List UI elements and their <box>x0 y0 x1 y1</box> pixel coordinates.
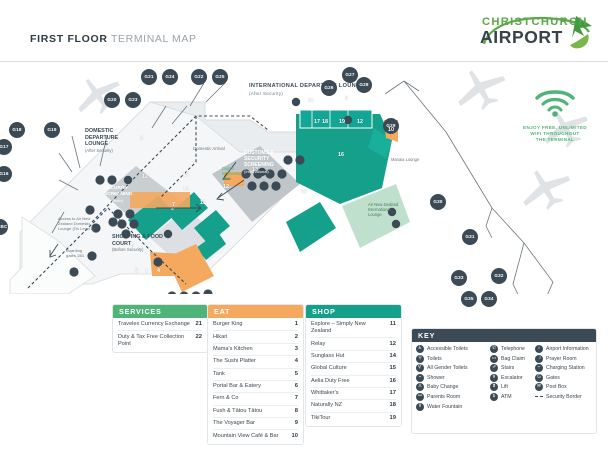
wifi-icon <box>533 88 577 118</box>
list-item[interactable]: Aelia Duty Free16 <box>311 376 396 388</box>
list-item[interactable]: The Voyager Bar9 <box>213 418 298 430</box>
list-item-label: Burger King <box>213 321 247 328</box>
list-item-number: 17 <box>390 390 396 397</box>
security-border-icon <box>535 393 543 401</box>
key-item-label: ATM <box>501 394 512 400</box>
parents-room-icon: ⚯ <box>416 393 424 401</box>
venue-number[interactable]: 1 <box>145 268 148 274</box>
map-label-domestic-arrival: Domestic Arrival <box>193 146 225 152</box>
terminal-map-page: FIRST FLOOR TERMINAL MAP CHRISTCHURCH AI… <box>0 0 608 456</box>
key-item: Security Border <box>535 393 597 401</box>
gate-badge[interactable]: G22 <box>191 69 207 85</box>
lift-icon: ⬍ <box>490 383 498 391</box>
list-item[interactable]: Tank5 <box>213 369 298 381</box>
list-item[interactable]: Sunglass Hut14 <box>311 351 396 363</box>
map-label-air-nz-international-lounge: Air New Zealand International Lounge <box>368 202 402 217</box>
escalator-icon: ⇞ <box>490 374 498 382</box>
key-panel-title: KEY <box>412 329 596 342</box>
shop-panel-title: SHOP <box>306 305 401 318</box>
list-item-label: Explore – Simply New Zealand <box>311 321 390 335</box>
key-item: ✆Telephone <box>490 345 535 353</box>
list-item-label: Global Culture <box>311 365 351 372</box>
list-item-number: 6 <box>295 383 298 390</box>
page-title: FIRST FLOOR TERMINAL MAP <box>30 33 197 45</box>
key-item-label: Bag Claim <box>501 356 525 362</box>
key-item: ✉Post Box <box>535 383 597 391</box>
list-item-number: 11 <box>390 321 396 328</box>
map-label-digital-innovation-zone: Digital Innovation Zone <box>222 166 252 182</box>
key-item: $ATM <box>490 393 535 401</box>
key-item: ⚲Toilets <box>416 355 490 363</box>
list-item[interactable]: Whittaker's17 <box>311 388 396 400</box>
gate-badge[interactable]: G19 <box>44 122 60 138</box>
gate-badge[interactable]: G26 <box>321 80 337 96</box>
key-item: ⌁Charging Station <box>535 364 597 372</box>
key-item: ♿Accessible Toilets <box>416 345 490 353</box>
map-label-security-screening: SECURITY SCREENING (Domestic) <box>104 186 146 205</box>
wifi-line1: ENJOY FREE, UNLIMITED <box>523 125 587 130</box>
page-title-bold: FIRST FLOOR <box>30 33 108 45</box>
map-label-domestic-departure-lounge: DOMESTIC DEPARTURE LOUNGE (After Securit… <box>85 128 137 154</box>
key-item-label: Post Box <box>546 384 567 390</box>
eat-panel: EAT Burger King1Hikari2Mama's Kitchen3Th… <box>207 304 304 445</box>
list-item-label: Aelia Duty Free <box>311 378 354 385</box>
venue-number[interactable]: 2 <box>135 268 138 274</box>
key-item-label: Gates <box>546 375 560 381</box>
gate-badge[interactable]: G25 <box>212 69 228 85</box>
key-item: ⚱Water Fountain <box>416 403 490 411</box>
list-item[interactable]: Fush & Tātou Tātou8 <box>213 406 298 418</box>
key-item: ▭Bag Claim <box>490 355 535 363</box>
key-item-label: Lift <box>501 384 508 390</box>
key-item: ⚯Parents Room <box>416 393 490 401</box>
list-item-label: Mama's Kitchen <box>213 346 257 353</box>
list-item-label: Naturally NZ <box>311 402 346 409</box>
list-item[interactable]: Fern & Co7 <box>213 393 298 405</box>
list-item[interactable]: Portal Bar & Eatery6 <box>213 381 298 393</box>
list-item[interactable]: TikiTour19 <box>311 413 396 424</box>
venue-number[interactable]: 5 <box>131 243 134 249</box>
key-item-label: Charging Station <box>546 365 585 371</box>
atm-icon: $ <box>490 393 498 401</box>
list-item-label: The Voyager Bar <box>213 420 259 427</box>
list-item-label: Tank <box>213 371 229 378</box>
list-item-number: 16 <box>390 378 396 385</box>
list-item-label: Fern & Co <box>213 395 243 402</box>
key-item: iAirport Information <box>535 345 597 353</box>
venue-number[interactable]: 6 <box>194 237 197 243</box>
venue-number[interactable]: 12 <box>142 174 148 180</box>
wifi-badge: ENJOY FREE, UNLIMITED WIFI THROUGHOUT TH… <box>507 88 603 143</box>
accessible-toilet-icon: ♿ <box>416 345 424 353</box>
list-item-number: 3 <box>295 346 298 353</box>
gate-badge[interactable]: G20 <box>104 92 120 108</box>
key-item-label: Parents Room <box>427 394 460 400</box>
page-title-rest: TERMINAL MAP <box>111 33 197 45</box>
list-item-number: 1 <box>295 321 298 328</box>
all-gender-toilet-icon: ⚥ <box>416 364 424 372</box>
list-item-number: 7 <box>295 395 298 402</box>
venue-number[interactable]: 18 <box>322 119 328 125</box>
key-item: ⌁Shower <box>416 374 490 382</box>
key-item-label: All Gender Toilets <box>427 365 468 371</box>
list-item[interactable]: Hikari2 <box>213 331 298 343</box>
list-item[interactable]: Mama's Kitchen3 <box>213 344 298 356</box>
charging-station-icon: ⌁ <box>535 364 543 372</box>
services-panel-title: SERVICES <box>113 305 207 318</box>
list-item-number: 10 <box>292 433 298 440</box>
list-item-number: 14 <box>390 353 396 360</box>
list-item[interactable]: Global Culture15 <box>311 363 396 375</box>
list-item[interactable]: Duty & Tax Free Collection Point22 <box>118 331 202 349</box>
venue-number[interactable]: 13 <box>252 167 258 173</box>
list-item-label: The Sushi Platter <box>213 358 260 365</box>
key-item-label: Telephone <box>501 346 525 352</box>
key-item-label: Escalator <box>501 375 523 381</box>
key-column-transport: ✆Telephone▭Bag Claim⇗Stairs⇞Escalator⬍Li… <box>490 345 535 412</box>
list-item[interactable]: Mountain View Café & Bar10 <box>213 430 298 441</box>
gate-badge[interactable]: G28 <box>356 77 372 93</box>
venue-number[interactable]: 21 <box>308 98 314 104</box>
venue-number[interactable]: 17 <box>314 119 320 125</box>
key-item: GGates <box>535 374 597 382</box>
logo-text-airport: AIRPORT <box>480 27 563 48</box>
gate-badge[interactable]: G33 <box>451 270 467 286</box>
key-item: ⚥All Gender Toilets <box>416 364 490 372</box>
shop-list: Explore – Simply New Zealand11Relay12Sun… <box>306 318 401 426</box>
wifi-line2: WIFI THROUGHOUT <box>530 131 579 136</box>
key-item-label: Prayer Room <box>546 356 577 362</box>
key-item-label: Security Border <box>546 394 582 400</box>
list-item-number: 5 <box>295 371 298 378</box>
venue-number[interactable]: 16 <box>338 152 344 158</box>
gate-badge[interactable]: G35 <box>461 291 477 307</box>
list-item-label: TikiTour <box>311 415 334 422</box>
wifi-text: ENJOY FREE, UNLIMITED WIFI THROUGHOUT TH… <box>507 125 603 143</box>
gate-icon: G <box>535 374 543 382</box>
venue-number[interactable]: 12 <box>357 119 363 125</box>
list-item-number: 4 <box>295 358 298 365</box>
list-item-number: 12 <box>390 341 396 348</box>
map-label-access-air-nz-domestic-lounge: Access to Air New Zealand Domestic Loung… <box>58 216 96 231</box>
list-item-number: 21 <box>196 321 202 328</box>
key-item-label: Airport Information <box>546 346 589 352</box>
telephone-icon: ✆ <box>490 345 498 353</box>
list-item[interactable]: Travelex Currency Exchange21 <box>118 319 202 331</box>
venue-number[interactable]: 8 <box>140 136 143 142</box>
post-box-icon: ✉ <box>535 383 543 391</box>
key-item: ⇞Escalator <box>490 374 535 382</box>
venue-number[interactable]: 15 <box>183 172 189 178</box>
baby-change-icon: ♙ <box>416 383 424 391</box>
list-item-number: 22 <box>196 334 202 341</box>
key-item-label: Water Fountain <box>427 404 462 410</box>
services-panel: SERVICES Travelex Currency Exchange21Dut… <box>112 304 208 353</box>
key-panel: KEY ♿Accessible Toilets⚲Toilets⚥All Gend… <box>411 328 597 434</box>
list-item-number: 8 <box>295 408 298 415</box>
list-item[interactable]: Naturally NZ18 <box>311 400 396 412</box>
list-item-label: Sunglass Hut <box>311 353 348 360</box>
key-item: ☽Prayer Room <box>535 355 597 363</box>
list-item-number: 18 <box>390 402 396 409</box>
gate-badge[interactable]: G30 <box>430 194 446 210</box>
list-item[interactable]: Explore – Simply New Zealand11 <box>311 319 396 338</box>
key-item-label: Toilets <box>427 356 442 362</box>
venue-number[interactable]: 12 <box>223 184 229 190</box>
map-label-manaia-lounge: Manaia Lounge <box>391 157 421 162</box>
wifi-line3: THE TERMINAL <box>536 137 574 142</box>
gate-badge[interactable]: G31 <box>462 229 478 245</box>
water-fountain-icon: ⚱ <box>416 403 424 411</box>
list-item-label: Mountain View Café & Bar <box>213 433 283 440</box>
venue-number[interactable]: 11 <box>200 200 206 206</box>
list-item-number: 2 <box>295 334 298 341</box>
services-list: Travelex Currency Exchange21Duty & Tax F… <box>113 318 207 352</box>
shower-icon: ⌁ <box>416 374 424 382</box>
gate-badge[interactable]: G18 <box>9 122 25 138</box>
venue-number[interactable]: 9 <box>345 96 348 102</box>
list-item-label: Duty & Tax Free Collection Point <box>118 334 196 348</box>
venue-number[interactable]: 19 <box>339 119 345 125</box>
prayer-room-icon: ☽ <box>535 355 543 363</box>
gate-badge[interactable]: G21 <box>141 69 157 85</box>
key-item: ⬍Lift <box>490 383 535 391</box>
key-item-label: Accessible Toilets <box>427 346 468 352</box>
key-item-label: Shower <box>427 375 445 381</box>
venue-number[interactable]: 4 <box>157 268 160 274</box>
venue-number[interactable]: 14 <box>183 186 189 192</box>
key-item: ♙Baby Change <box>416 383 490 391</box>
toilet-icon: ⚲ <box>416 355 424 363</box>
list-item-label: Hikari <box>213 334 231 341</box>
map-label-shopping-food-court: SHOPPING & FOOD COURT (Before Security) <box>112 234 168 254</box>
information-icon: i <box>535 345 543 353</box>
bag-claim-icon: ▭ <box>490 355 498 363</box>
list-item-label: Relay <box>311 341 329 348</box>
gate-badge[interactable]: G24 <box>162 69 178 85</box>
list-item[interactable]: Relay12 <box>311 338 396 350</box>
key-column-amenities: ♿Accessible Toilets⚲Toilets⚥All Gender T… <box>416 345 490 412</box>
key-item: ⇗Stairs <box>490 364 535 372</box>
venue-number[interactable]: 22 <box>301 189 307 195</box>
eat-panel-title: EAT <box>208 305 303 318</box>
list-item-label: Portal Bar & Eatery <box>213 383 265 390</box>
list-item-label: Whittaker's <box>311 390 343 397</box>
venue-number[interactable]: 7 <box>172 202 175 208</box>
gate-badge[interactable]: G32 <box>491 268 507 284</box>
gate-badge[interactable]: G34 <box>481 291 497 307</box>
list-item-number: 9 <box>295 420 298 427</box>
list-item-number: 19 <box>390 415 396 422</box>
list-item-label: Travelex Currency Exchange <box>118 321 194 328</box>
gate-badge[interactable]: G23 <box>125 92 141 108</box>
list-item-label: Fush & Tātou Tātou <box>213 408 266 415</box>
gate-badge[interactable]: G27 <box>342 67 358 83</box>
shop-panel: SHOP Explore – Simply New Zealand11Relay… <box>305 304 402 427</box>
key-item-label: Baby Change <box>427 384 458 390</box>
eat-list: Burger King1Hikari2Mama's Kitchen3The Su… <box>208 318 303 444</box>
stairs-icon: ⇗ <box>490 364 498 372</box>
page-header: FIRST FLOOR TERMINAL MAP CHRISTCHURCH AI… <box>0 0 608 62</box>
map-label-boarding-gates: Boarding gates 15D <box>66 248 92 258</box>
key-item-label: Stairs <box>501 365 514 371</box>
key-column-services: iAirport Information☽Prayer Room⌁Chargin… <box>535 345 597 412</box>
list-item[interactable]: The Sushi Platter4 <box>213 356 298 368</box>
venue-number[interactable]: 10 <box>388 127 394 133</box>
list-item[interactable]: Burger King1 <box>213 319 298 331</box>
christchurch-airport-logo: CHRISTCHURCH AIRPORT <box>476 14 596 54</box>
list-item-number: 15 <box>390 365 396 372</box>
